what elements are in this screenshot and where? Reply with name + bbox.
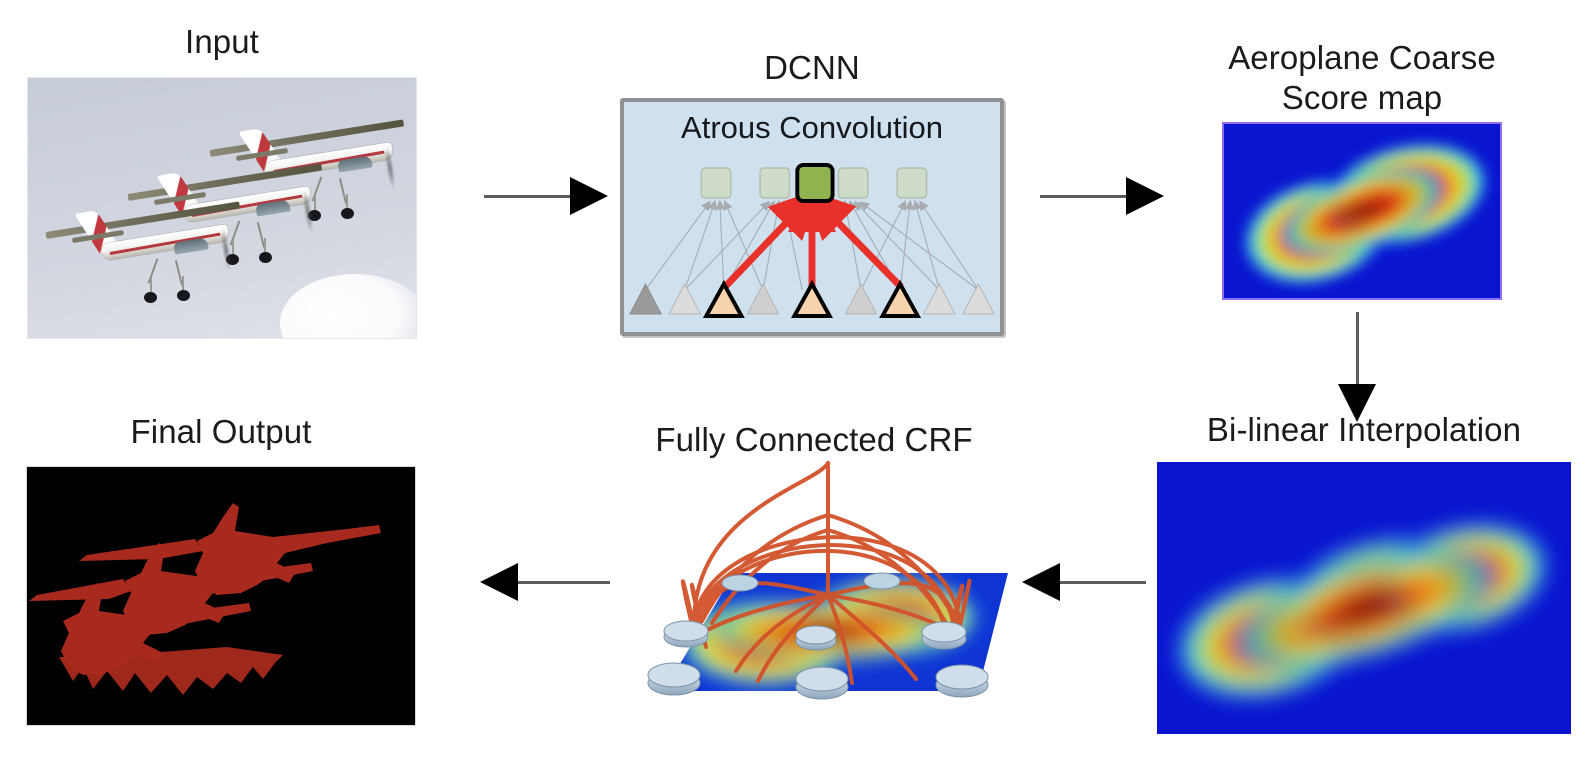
- arrow-shaft: [514, 581, 610, 584]
- segmentation-mask-svg: [27, 467, 415, 725]
- arrow-shaft: [1356, 312, 1359, 386]
- arrow-shaft: [1040, 195, 1130, 198]
- fully-connected-crf-label: Fully Connected CRF: [604, 420, 1024, 460]
- arrow-head-icon: [480, 563, 518, 601]
- arrow-shaft: [484, 195, 574, 198]
- atrous-output-units: [701, 165, 926, 201]
- cloud-decoration: [280, 274, 416, 338]
- coarse-score-map-image: [1224, 124, 1500, 298]
- atrous-convolution-diagram: [624, 154, 1000, 334]
- arrow-interpolation-to-crf: [1022, 562, 1146, 602]
- bilinear-interpolation-image: [1157, 462, 1571, 734]
- final-output-label: Final Output: [27, 412, 415, 452]
- interpolated-heatmap-svg: [1157, 462, 1571, 734]
- input-image: [28, 78, 416, 338]
- input-label: Input: [28, 22, 416, 62]
- atrous-convolution-label: Atrous Convolution: [624, 110, 1000, 146]
- coarse-score-map-label: Aeroplane Coarse Score map: [1192, 38, 1532, 118]
- arrow-head-icon: [1126, 177, 1164, 215]
- figure-canvas: Input: [0, 0, 1582, 758]
- crf-graph-svg: [616, 455, 1016, 715]
- dcnn-label: DCNN: [620, 48, 1004, 88]
- dcnn-box: Atrous Convolution: [620, 98, 1004, 336]
- arrow-head-icon: [1022, 563, 1060, 601]
- arrow-shaft: [1056, 581, 1146, 584]
- arrow-scoremap-to-interpolation: [1337, 312, 1377, 422]
- arrow-head-icon: [570, 177, 608, 215]
- bilinear-interpolation-label: Bi-linear Interpolation: [1152, 410, 1576, 450]
- arrow-crf-to-output: [480, 562, 610, 602]
- crf-figure: [616, 455, 1016, 715]
- arrow-input-to-dcnn: [484, 176, 608, 216]
- final-output-image: [27, 467, 415, 725]
- coarse-heatmap-svg: [1224, 124, 1500, 298]
- arrow-dcnn-to-scoremap: [1040, 176, 1164, 216]
- atrous-input-units: [630, 284, 994, 316]
